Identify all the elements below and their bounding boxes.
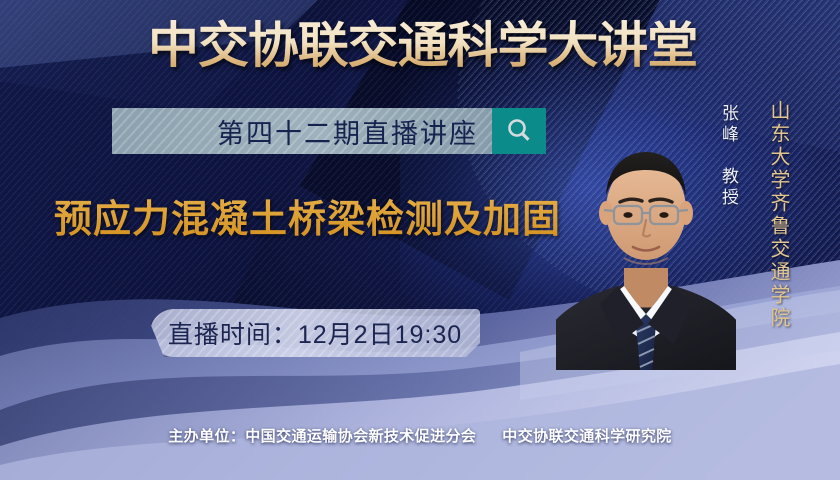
search-icon <box>504 116 534 146</box>
footer-organizer-primary: 主办单位：中国交通运输协会新技术促进分会 <box>168 428 476 445</box>
lecture-topic: 预应力混凝土桥梁检测及加固 <box>54 188 561 243</box>
lecture-poster: 中交协联交通科学大讲堂 第四十二期直播讲座 预应力混凝土桥梁检测及加固 直播时间… <box>0 0 840 480</box>
footer-organizer-secondary: 中交协联交通科学研究院 <box>502 428 671 445</box>
speaker-affiliation: 山东大学齐鲁交通学院 <box>764 100 793 330</box>
footer-organizers: 主办单位：中国交通运输协会新技术促进分会中交协联交通科学研究院 <box>0 425 840 446</box>
broadcast-time-badge: 直播时间：12月2日19:30 <box>150 309 480 357</box>
page-title: 中交协联交通科学大讲堂 <box>148 17 697 77</box>
speaker-name: 张峰 教授 <box>716 104 741 209</box>
broadcast-time-text: 直播时间：12月2日19:30 <box>168 315 462 351</box>
search-icon-button[interactable] <box>492 108 546 154</box>
speaker-portrait <box>556 118 736 370</box>
episode-label: 第四十二期直播讲座 <box>217 112 478 151</box>
episode-bar: 第四十二期直播讲座 <box>112 108 546 154</box>
episode-bar-fill: 第四十二期直播讲座 <box>112 108 492 154</box>
